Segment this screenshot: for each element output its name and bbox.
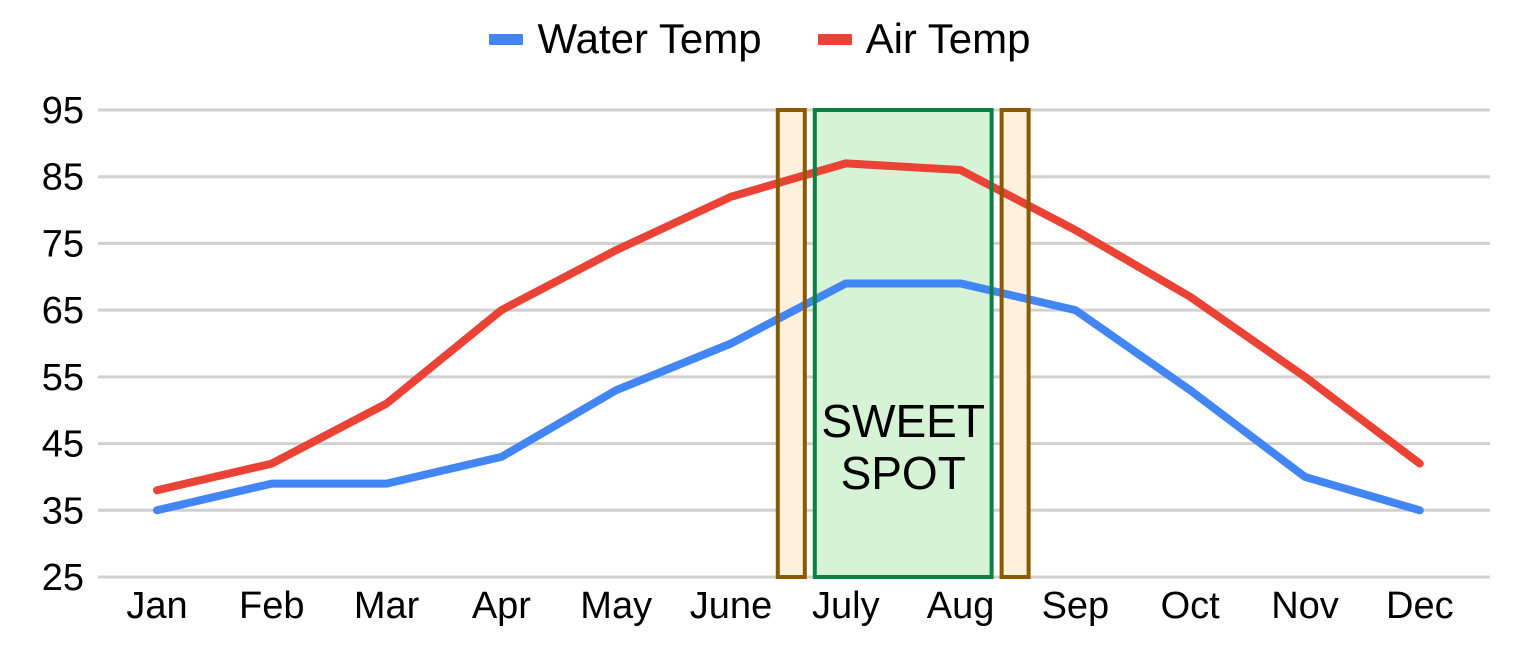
sweet-spot-label-line-1: SWEET [821,395,985,447]
y-axis-tick-label: 85 [42,157,84,199]
shoulder-band-right [1002,110,1029,577]
x-axis-tick-label: Sep [1042,585,1110,627]
chart-container: Water Temp Air Temp 9585756555453525 SWE… [0,0,1520,654]
y-axis-tick-label: 35 [42,490,84,532]
x-axis-tick-label: Apr [472,585,531,627]
y-axis-tick-label: 65 [42,290,84,332]
x-axis-tick-label: Oct [1161,585,1221,627]
x-axis-tick-label: June [690,585,772,627]
x-axis-tick-label: Mar [354,585,420,627]
y-axis-tick-label: 95 [42,90,84,132]
x-axis-tick-label: Dec [1386,585,1454,627]
y-axis-tick-labels: 9585756555453525 [42,90,84,599]
x-axis-tick-label: Feb [239,585,304,627]
sweet-spot-box [815,110,992,577]
x-axis-tick-label: May [580,585,652,627]
x-axis-tick-label: Jan [126,585,187,627]
y-axis-tick-label: 55 [42,357,84,399]
plot-area: 9585756555453525 SWEETSPOT JanFebMarAprM… [0,0,1520,654]
sweet-spot-label-line-2: SPOT [841,447,966,499]
y-axis-tick-label: 75 [42,223,84,265]
y-axis-tick-label: 45 [42,424,84,466]
x-axis-tick-label: Aug [927,585,995,627]
annotation-text-group: SWEETSPOT [821,395,985,499]
x-axis-tick-label: Nov [1271,585,1339,627]
y-axis-tick-label: 25 [42,557,84,599]
x-axis-tick-labels: JanFebMarAprMayJuneJulyAugSepOctNovDec [126,585,1453,627]
x-axis-tick-label: July [812,585,880,627]
